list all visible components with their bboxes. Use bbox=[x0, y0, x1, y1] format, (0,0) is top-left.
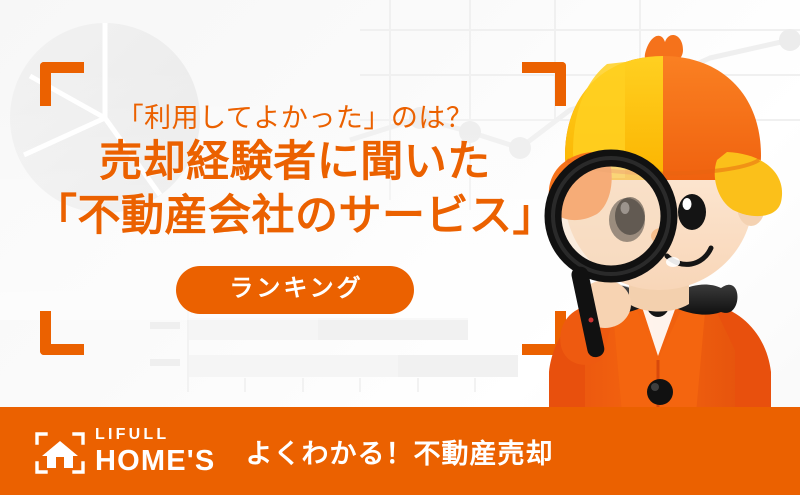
corner-bracket-top-left-icon bbox=[40, 62, 84, 106]
bar-rows-watermark-icon bbox=[150, 308, 518, 392]
logo-brand-large: HOME'S bbox=[95, 447, 215, 476]
footer-tagline: よくわかる！不動産売却 bbox=[245, 432, 553, 471]
ranking-badge[interactable]: ランキング bbox=[176, 266, 413, 314]
banner-root: 「利用してよかった」のは？ 売却経験者に聞いた 「不動産会社のサービス」 ランキ… bbox=[0, 0, 800, 495]
house-in-brackets-icon bbox=[34, 430, 86, 476]
suit-button-top bbox=[647, 379, 673, 405]
logo-brand-small: LIFULL bbox=[95, 427, 215, 443]
footer-bar: LIFULL HOME'S よくわかる！不動産売却 bbox=[0, 407, 800, 495]
corner-bracket-bottom-left-icon bbox=[40, 311, 84, 355]
lifull-homes-logo[interactable]: LIFULL HOME'S bbox=[34, 427, 215, 476]
mascot-character bbox=[495, 20, 800, 470]
